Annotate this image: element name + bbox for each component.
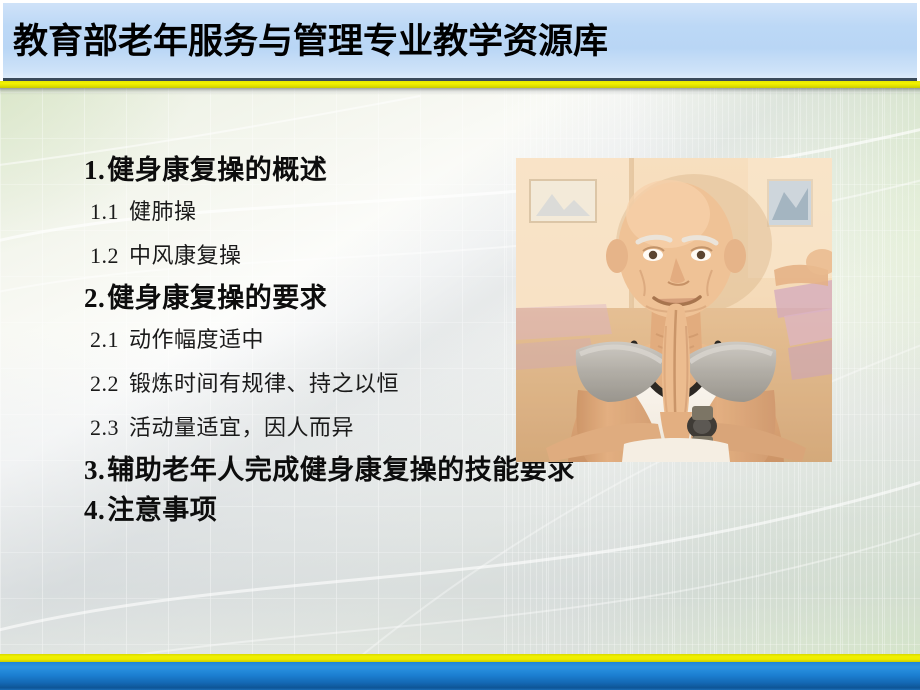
outline-item-number: 1.2 — [90, 243, 119, 268]
outline-item-label: 健身康复操的要求 — [107, 283, 327, 313]
elderly-man-exercise-photo — [516, 158, 832, 462]
outline-item: 4.注意事项 — [84, 490, 704, 530]
outline-item-number: 2. — [84, 283, 105, 313]
header-drop-shadow — [0, 88, 920, 95]
page-title: 教育部老年服务与管理专业教学资源库 — [13, 25, 608, 60]
outline-item-label: 健身康复操的概述 — [107, 155, 327, 185]
outline-item-number: 1.1 — [90, 199, 119, 224]
outline-item-number: 2.2 — [90, 371, 119, 396]
outline-item-number: 4. — [84, 495, 105, 525]
outline-item-label: 注意事项 — [107, 495, 217, 525]
slide: 教育部老年服务与管理专业教学资源库 1.健身康复操的概述 1.1健肺操 1.2中… — [0, 0, 920, 690]
outline-item-label: 锻炼时间有规律、持之以恒 — [129, 371, 399, 396]
footer-bar — [0, 662, 920, 690]
slide-header-banner: 教育部老年服务与管理专业教学资源库 — [0, 0, 920, 81]
outline-item-number: 2.3 — [90, 415, 119, 440]
outline-item-label: 中风康复操 — [129, 243, 242, 268]
outline-item-label: 动作幅度适中 — [129, 327, 264, 352]
outline-item-label: 健肺操 — [129, 199, 197, 224]
header-accent-rule — [0, 81, 920, 88]
outline-item-label: 辅助老年人完成健身康复操的技能要求 — [107, 455, 575, 485]
outline-item-number: 1. — [84, 155, 105, 185]
outline-item-number: 2.1 — [90, 327, 119, 352]
outline-item-number: 3. — [84, 455, 105, 485]
footer-accent-rule — [0, 654, 920, 662]
outline-item-label: 活动量适宜，因人而异 — [129, 415, 354, 440]
